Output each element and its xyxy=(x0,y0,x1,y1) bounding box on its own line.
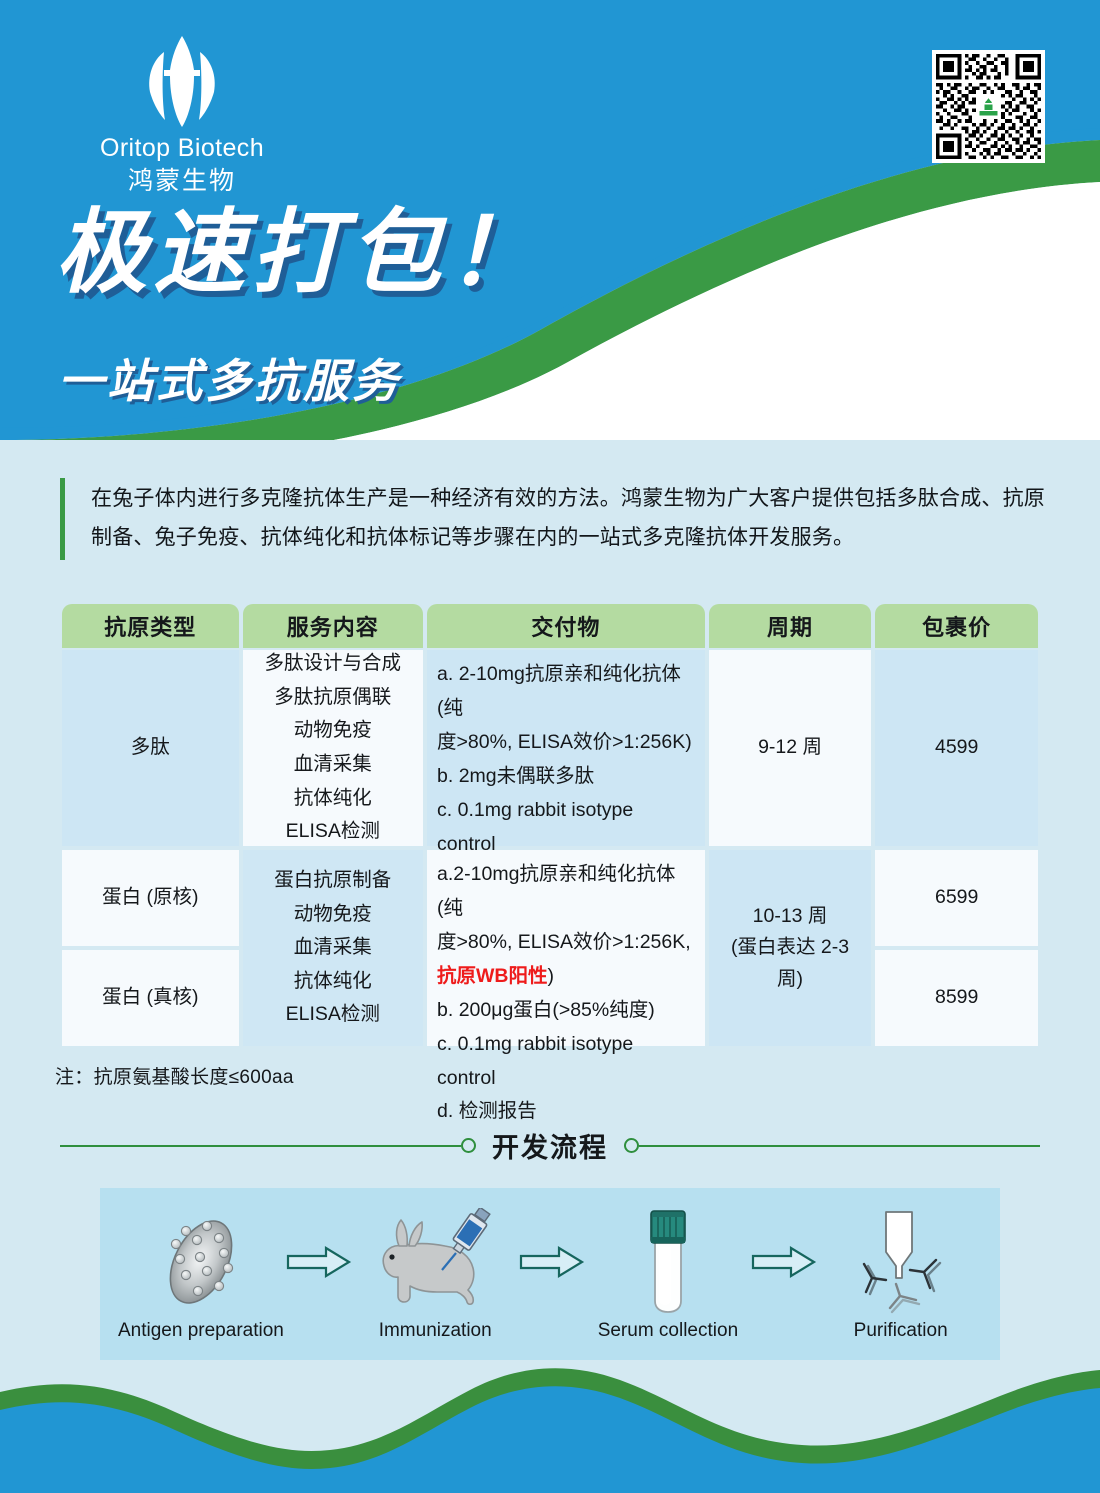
column-price: 4599 6599 8599 xyxy=(875,650,1038,1046)
process-step-antigen-preparation: Antigen preparation xyxy=(118,1206,284,1342)
th-deliverables: 交付物 xyxy=(427,604,705,648)
th-period: 周期 xyxy=(709,604,872,648)
table-header-row: 抗原类型 服务内容 交付物 周期 包裹价 xyxy=(62,604,1038,648)
right-arrow-icon xyxy=(749,1246,819,1302)
cell-period-protein: 10-13 周 (蛋白表达 2-3 周) xyxy=(709,850,872,1046)
cell-price-protein-prokaryote: 6599 xyxy=(875,850,1038,946)
process-step-purification: Purification xyxy=(819,1206,982,1342)
process-step-serum-collection: Serum collection xyxy=(587,1206,750,1342)
process-step-label: Antigen preparation xyxy=(118,1320,284,1342)
poster-root: Oritop Biotech 鸿蒙生物 xyxy=(0,0,1100,1493)
column-service: 多肽设计与合成 多肽抗原偶联 动物免疫 血清采集 抗体纯化 ELISA检测 蛋白… xyxy=(243,650,424,1046)
deliverable-line: c. 0.1mg rabbit isotype control xyxy=(437,1028,695,1096)
divider-dot-left-icon xyxy=(461,1138,476,1153)
column-period: 9-12 周 10-13 周 (蛋白表达 2-3 周) xyxy=(709,650,872,1046)
deliverable-line-highlight: 抗原WB阳性) xyxy=(437,960,554,994)
brand-logo: Oritop Biotech 鸿蒙生物 xyxy=(52,34,312,196)
service-line: 多肽设计与合成 多肽抗原偶联 动物免疫 血清采集 抗体纯化 ELISA检测 xyxy=(265,647,402,848)
th-service: 服务内容 xyxy=(243,604,424,648)
intro-text: 在兔子体内进行多克隆抗体生产是一种经济有效的方法。鸿蒙生物为广大客户提供包括多肽… xyxy=(91,480,1050,558)
deliverable-line: a.2-10mg抗原亲和纯化抗体(纯 xyxy=(437,858,695,926)
antibody-column-icon xyxy=(846,1206,956,1318)
period-line-note: (蛋白表达 2-3 周) xyxy=(719,932,862,995)
cell-deliverables-protein: a.2-10mg抗原亲和纯化抗体(纯 度>80%, ELISA效价>1:256K… xyxy=(427,850,705,1046)
footer-wave-background xyxy=(0,1358,1100,1493)
deliverable-line: a. 2-10mg抗原亲和纯化抗体(纯 xyxy=(437,658,695,726)
deliverable-line: 度>80%, ELISA效价>1:256K, xyxy=(437,926,691,960)
highlight-tail: ) xyxy=(548,965,555,987)
deliverable-line: 度>80%, ELISA效价>1:256K) xyxy=(437,726,692,760)
divider-dot-right-icon xyxy=(624,1138,639,1153)
right-arrow-icon xyxy=(517,1246,587,1302)
wb-positive-highlight: 抗原WB阳性 xyxy=(437,965,548,987)
intro-block: 在兔子体内进行多克隆抗体生产是一种经济有效的方法。鸿蒙生物为广大客户提供包括多肽… xyxy=(60,478,1050,560)
page-subtitle: 一站式多抗服务 xyxy=(58,345,401,411)
cell-price-protein-eukaryote: 8599 xyxy=(875,950,1038,1046)
cell-antigen-protein-prokaryote: 蛋白 (原核) xyxy=(62,850,239,946)
process-step-label: Purification xyxy=(854,1320,948,1342)
page-title: 极速打包！ xyxy=(55,205,545,302)
deliverable-line: b. 2mg未偶联多肽 xyxy=(437,760,594,794)
brand-name-en: Oritop Biotech xyxy=(52,134,312,163)
process-step-immunization: Immunization xyxy=(354,1206,517,1342)
shield-h-logo-icon xyxy=(137,34,227,130)
period-line-main: 10-13 周 xyxy=(753,901,828,933)
process-step-label: Serum collection xyxy=(598,1320,738,1342)
service-line: 蛋白抗原制备 动物免疫 血清采集 抗体纯化 ELISA检测 xyxy=(274,864,391,1032)
cell-antigen-peptide: 多肽 xyxy=(62,650,239,846)
qr-code[interactable] xyxy=(932,50,1045,163)
table-note: 注：抗原氨基酸长度≤600aa xyxy=(55,1062,294,1089)
divider-line-left xyxy=(60,1145,461,1147)
deliverable-line: b. 200μg蛋白(>85%纯度) xyxy=(437,994,655,1028)
deliverable-line: d. 检测报告 xyxy=(437,1095,537,1129)
column-deliverables: a. 2-10mg抗原亲和纯化抗体(纯 度>80%, ELISA效价>1:256… xyxy=(427,650,705,1046)
service-list-peptide: 多肽设计与合成 多肽抗原偶联 动物免疫 血清采集 抗体纯化 ELISA检测 xyxy=(265,647,402,848)
right-arrow-icon xyxy=(284,1246,354,1302)
divider-line-right xyxy=(639,1145,1040,1147)
cell-deliverables-peptide: a. 2-10mg抗原亲和纯化抗体(纯 度>80%, ELISA效价>1:256… xyxy=(427,650,705,846)
cell-antigen-protein-eukaryote: 蛋白 (真核) xyxy=(62,950,239,1046)
blood-tube-icon xyxy=(633,1206,703,1318)
cell-period-peptide: 9-12 周 xyxy=(709,650,872,846)
antigen-particle-icon xyxy=(149,1206,253,1318)
cell-service-protein: 蛋白抗原制备 动物免疫 血清采集 抗体纯化 ELISA检测 xyxy=(243,850,424,1046)
column-antigen-type: 多肽 蛋白 (原核) 蛋白 (真核) xyxy=(62,650,239,1046)
qr-code-icon xyxy=(936,54,1041,159)
table-body: 多肽 蛋白 (原核) 蛋白 (真核) 多肽设计与合成 多肽抗原偶联 动物免疫 血… xyxy=(62,650,1038,1046)
brand-name-cn: 鸿蒙生物 xyxy=(52,167,312,196)
cell-service-peptide: 多肽设计与合成 多肽抗原偶联 动物免疫 血清采集 抗体纯化 ELISA检测 xyxy=(243,650,424,846)
th-price: 包裹价 xyxy=(875,604,1038,648)
process-divider: 开发流程 xyxy=(60,1126,1040,1165)
cell-price-peptide: 4599 xyxy=(875,650,1038,846)
service-list-protein: 蛋白抗原制备 动物免疫 血清采集 抗体纯化 ELISA检测 xyxy=(274,864,391,1032)
th-antigen-type: 抗原类型 xyxy=(62,604,239,648)
process-step-label: Immunization xyxy=(379,1320,492,1342)
process-section-title: 开发流程 xyxy=(476,1126,624,1165)
rabbit-syringe-icon xyxy=(365,1206,505,1318)
process-flow: Antigen preparation xyxy=(100,1188,1000,1360)
service-table: 抗原类型 服务内容 交付物 周期 包裹价 多肽 蛋白 (原核) 蛋白 (真核) … xyxy=(62,604,1038,1046)
